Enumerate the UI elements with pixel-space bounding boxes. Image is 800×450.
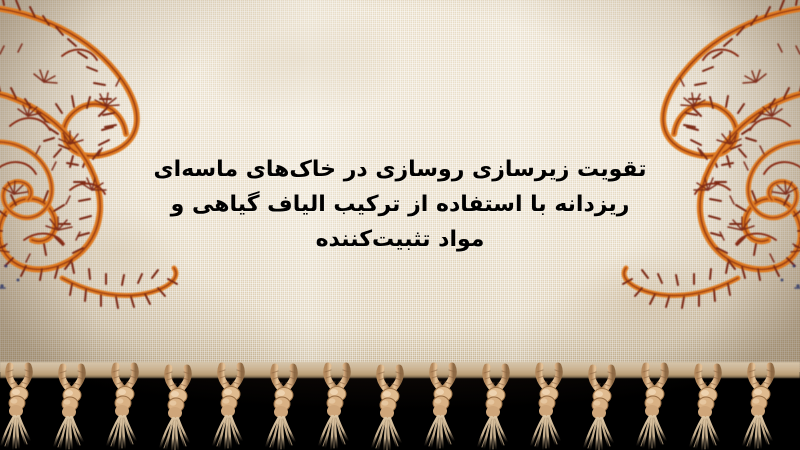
title-line-1: تقویت زیرسازی روسازی در خاک‌های ماسه‌ای (150, 152, 650, 187)
tassel-row (1, 366, 773, 450)
tassel-fringe (0, 340, 800, 450)
page-title: تقویت زیرسازی روسازی در خاک‌های ماسه‌ای … (150, 152, 650, 257)
title-card: تقویت زیرسازی روسازی در خاک‌های ماسه‌ای … (0, 0, 800, 450)
title-line-3: مواد تثبیت‌کننده (150, 222, 650, 257)
title-line-2: ریزدانه با استفاده از ترکیب الیاف گیاهی … (150, 187, 650, 222)
